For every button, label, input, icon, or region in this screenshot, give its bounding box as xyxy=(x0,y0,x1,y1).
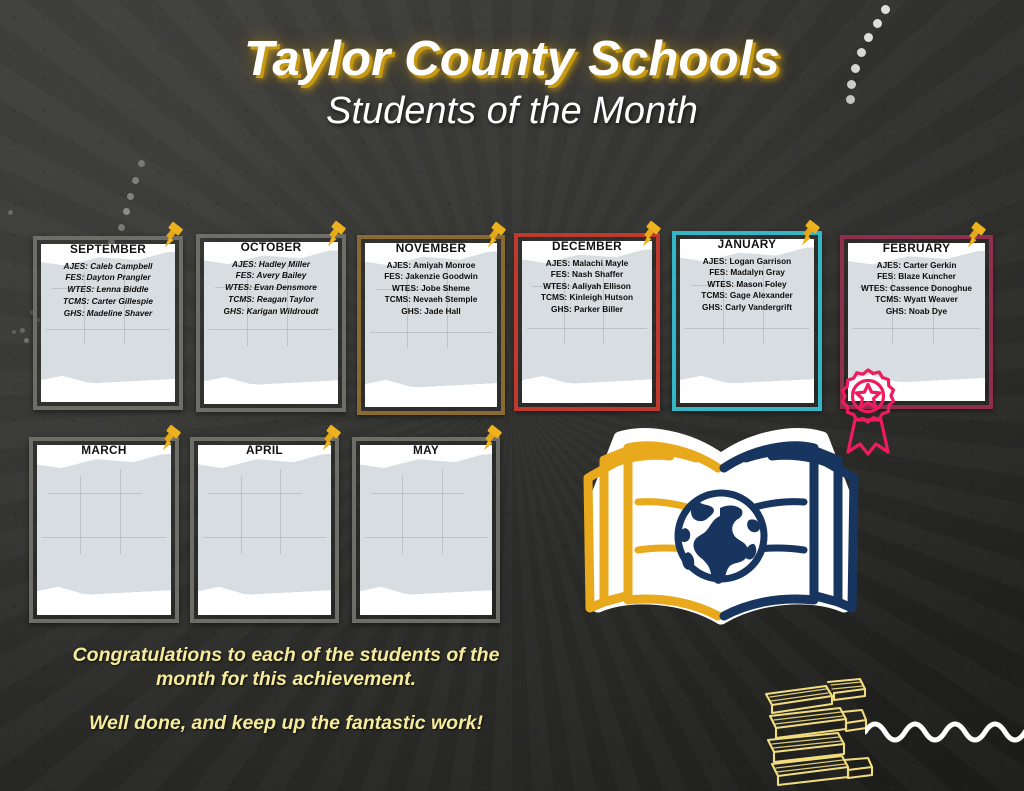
award-rosette-icon xyxy=(833,366,903,458)
student-entry: FES: Nash Shaffer xyxy=(519,269,655,281)
student-list: AJES: Logan GarrisonFES: Madalyn GrayWTE… xyxy=(677,256,817,314)
student-entry: FES: Madalyn Gray xyxy=(677,267,817,279)
decorative-dot xyxy=(873,19,882,28)
student-entry: FES: Avery Bailey xyxy=(201,270,341,282)
student-entry: WTES: Evan Densmore xyxy=(201,282,341,294)
decorative-dot xyxy=(881,5,890,14)
card-content: MARCH xyxy=(29,437,179,623)
student-entry: WTES: Mason Foley xyxy=(677,279,817,291)
month-card-january[interactable]: JANUARYAJES: Logan GarrisonFES: Madalyn … xyxy=(672,231,822,411)
student-entry: AJES: Malachi Mayle xyxy=(519,258,655,270)
student-entry: FES: Jakenzie Goodwin xyxy=(362,271,500,283)
page-title: Taylor County Schools xyxy=(0,34,1024,85)
decorative-dot xyxy=(20,328,25,333)
month-card-october[interactable]: OCTOBERAJES: Hadley MillerFES: Avery Bai… xyxy=(196,234,346,412)
student-entry: TCMS: Wyatt Weaver xyxy=(845,294,988,306)
card-month-title: MAY xyxy=(357,444,495,458)
student-entry: AJES: Hadley Miller xyxy=(201,259,341,271)
month-card-may[interactable]: MAY xyxy=(352,437,500,623)
card-content: JANUARYAJES: Logan GarrisonFES: Madalyn … xyxy=(672,231,822,411)
card-content: DECEMBERAJES: Malachi MayleFES: Nash Sha… xyxy=(514,233,660,411)
student-entry: TCMS: Carter Gillespie xyxy=(38,296,178,308)
student-entry: GHS: Karigan Wildroudt xyxy=(201,306,341,318)
card-month-title: JANUARY xyxy=(677,238,817,252)
page-header: Taylor County Schools Students of the Mo… xyxy=(0,34,1024,133)
decorative-dot xyxy=(132,177,139,184)
student-entry: GHS: Carly Vandergrift xyxy=(677,302,817,314)
footer-line-2: month for this achievement. xyxy=(46,668,526,692)
student-entry: AJES: Logan Garrison xyxy=(677,256,817,268)
card-content: SEPTEMBERAJES: Caleb CampbellFES: Dayton… xyxy=(33,236,183,410)
month-card-december[interactable]: DECEMBERAJES: Malachi MayleFES: Nash Sha… xyxy=(514,233,660,411)
open-book-globe-icon xyxy=(568,424,874,636)
card-content: APRIL xyxy=(190,437,339,623)
student-entry: GHS: Noab Dye xyxy=(845,306,988,318)
card-month-title: DECEMBER xyxy=(519,240,655,254)
student-entry: WTES: Cassence Donoghue xyxy=(845,283,988,295)
wavy-line-icon xyxy=(865,714,1024,746)
card-content: NOVEMBERAJES: Amiyah MonroeFES: Jakenzie… xyxy=(357,235,505,415)
student-list: AJES: Carter GerkinFES: Blaze KuncherWTE… xyxy=(845,260,988,318)
decorative-dot xyxy=(12,330,16,334)
month-card-november[interactable]: NOVEMBERAJES: Amiyah MonroeFES: Jakenzie… xyxy=(357,235,505,415)
student-list: AJES: Caleb CampbellFES: Dayton Prangler… xyxy=(38,261,178,320)
card-month-title: APRIL xyxy=(195,444,334,458)
student-entry: AJES: Caleb Campbell xyxy=(38,261,178,273)
student-entry: FES: Blaze Kuncher xyxy=(845,271,988,283)
decorative-dot xyxy=(127,193,134,200)
card-month-title: NOVEMBER xyxy=(362,242,500,256)
card-month-title: OCTOBER xyxy=(201,241,341,255)
footer-message: Congratulations to each of the students … xyxy=(46,644,526,735)
student-entry: AJES: Amiyah Monroe xyxy=(362,260,500,272)
card-month-title: SEPTEMBER xyxy=(38,243,178,257)
card-month-title: MARCH xyxy=(34,444,174,458)
student-entry: GHS: Jade Hall xyxy=(362,306,500,318)
card-content: OCTOBERAJES: Hadley MillerFES: Avery Bai… xyxy=(196,234,346,412)
decorative-dot xyxy=(123,208,130,215)
student-entry: GHS: Madeline Shaver xyxy=(38,308,178,320)
student-entry: WTES: Jobe Sheme xyxy=(362,283,500,295)
decorative-dot xyxy=(24,338,29,343)
student-entry: WTES: Lenna Biddle xyxy=(38,284,178,296)
student-entry: WTES: Aaliyah Ellison xyxy=(519,281,655,293)
student-entry: TCMS: Kinleigh Hutson xyxy=(519,292,655,304)
decorative-dot xyxy=(8,210,13,215)
student-entry: TCMS: Gage Alexander xyxy=(677,290,817,302)
decorative-dot xyxy=(118,224,125,231)
month-card-april[interactable]: APRIL xyxy=(190,437,339,623)
month-card-march[interactable]: MARCH xyxy=(29,437,179,623)
student-list: AJES: Hadley MillerFES: Avery BaileyWTES… xyxy=(201,259,341,318)
card-content: MAY xyxy=(352,437,500,623)
student-entry: TCMS: Nevaeh Stemple xyxy=(362,294,500,306)
student-entry: FES: Dayton Prangler xyxy=(38,272,178,284)
student-list: AJES: Amiyah MonroeFES: Jakenzie Goodwin… xyxy=(362,260,500,318)
student-entry: GHS: Parker Biller xyxy=(519,304,655,316)
footer-line-3: Well done, and keep up the fantastic wor… xyxy=(46,712,526,736)
student-entry: AJES: Carter Gerkin xyxy=(845,260,988,272)
page-subtitle: Students of the Month xyxy=(0,90,1024,133)
student-entry: TCMS: Reagan Taylor xyxy=(201,294,341,306)
month-card-september[interactable]: SEPTEMBERAJES: Caleb CampbellFES: Dayton… xyxy=(33,236,183,410)
card-month-title: FEBRUARY xyxy=(845,242,988,256)
footer-line-1: Congratulations to each of the students … xyxy=(46,644,526,668)
decorative-dot xyxy=(138,160,145,167)
student-list: AJES: Malachi MayleFES: Nash ShafferWTES… xyxy=(519,258,655,316)
